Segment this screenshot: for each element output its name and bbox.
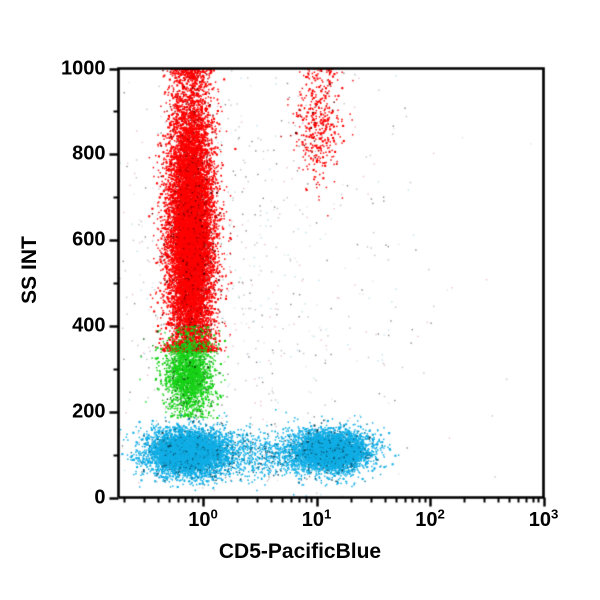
flow-cytometry-dot-plot: [Ungated] CD5-PacificBlue / SS INT SS IN… (0, 0, 600, 600)
y-tick-label: 0 (0, 486, 106, 509)
y-tick-label: 600 (0, 229, 106, 252)
x-tick-label: 102 (415, 509, 445, 532)
y-tick-label: 800 (0, 143, 106, 166)
x-tick-label: 100 (188, 509, 218, 532)
x-tick-label: 103 (529, 509, 559, 532)
y-tick-label: 200 (0, 400, 106, 423)
x-tick-label: 101 (302, 509, 332, 532)
x-axis-label: CD5-PacificBlue (0, 540, 600, 564)
y-tick-label: 1000 (0, 57, 106, 80)
y-tick-label: 400 (0, 314, 106, 337)
scatter-plot-canvas[interactable] (0, 0, 600, 600)
